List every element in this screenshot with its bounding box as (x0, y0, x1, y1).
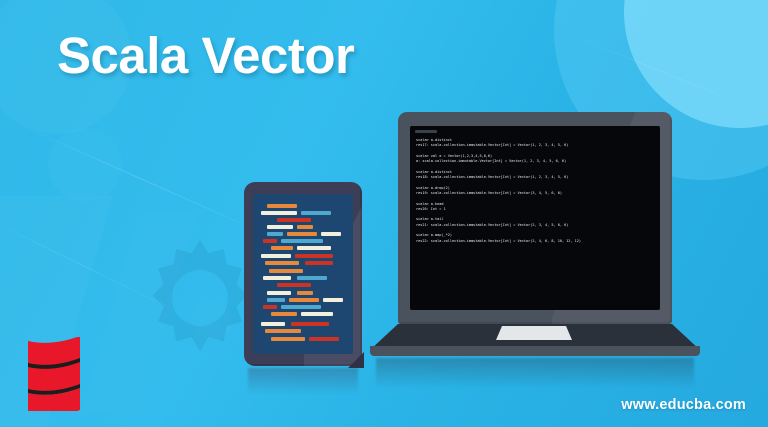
background-arc-inner (624, 0, 768, 128)
code-bar (323, 298, 343, 302)
code-bar (267, 204, 297, 208)
code-bar (301, 211, 331, 215)
background-circle-3 (192, 300, 232, 340)
code-bar (271, 337, 305, 341)
tablet-corner-fold (348, 352, 364, 368)
tablet-reflection (248, 368, 358, 394)
code-bar (287, 232, 317, 236)
code-bar (289, 298, 319, 302)
laptop-reflection (376, 358, 694, 388)
laptop-screen: scala> a.distinctres17: scala.collection… (410, 126, 660, 310)
code-bar (277, 218, 311, 222)
code-bar (267, 298, 285, 302)
code-bar (281, 305, 321, 309)
laptop-trackpad (496, 326, 572, 340)
background-panel-2 (81, 214, 196, 414)
code-bar (321, 232, 341, 236)
code-bar (309, 337, 339, 341)
terminal-line: res22: scala.collection.immutable.Vector… (416, 239, 656, 244)
code-bar (263, 276, 291, 280)
code-bar (269, 269, 303, 273)
code-bar (297, 291, 313, 295)
code-bar (291, 322, 329, 326)
code-bar (295, 254, 333, 258)
code-bar (301, 312, 333, 316)
terminal-output: scala> a.distinctres17: scala.collection… (416, 138, 656, 306)
tablet-screen (253, 194, 353, 354)
code-bar (271, 246, 293, 250)
code-bar (271, 312, 297, 316)
code-bar (265, 329, 301, 333)
laptop-base-lip (370, 346, 700, 356)
page-title: Scala Vector (57, 26, 354, 85)
code-bar (297, 225, 313, 229)
code-bar (267, 232, 283, 236)
background-circle-2 (48, 128, 122, 202)
code-bar (261, 322, 285, 326)
code-bar (305, 261, 333, 265)
code-bar (261, 254, 291, 258)
banner-stage: Scala Vector scala> a.distinctres17: sca… (0, 0, 768, 427)
code-bar (297, 246, 331, 250)
code-bar (263, 305, 277, 309)
terminal-title-bar (415, 130, 437, 133)
background-streak-3 (560, 30, 755, 110)
tablet-device (244, 182, 362, 366)
code-bar (261, 211, 297, 215)
code-bar (265, 261, 299, 265)
scala-logo-icon (22, 337, 86, 411)
code-bar (267, 225, 293, 229)
background-streak-2 (0, 210, 195, 320)
code-bar (281, 239, 323, 243)
code-bar (277, 283, 311, 287)
code-bar (267, 291, 291, 295)
site-watermark: www.educba.com (621, 397, 746, 413)
code-bar (297, 276, 327, 280)
code-bar (263, 239, 277, 243)
laptop-device: scala> a.distinctres17: scala.collection… (370, 112, 700, 364)
